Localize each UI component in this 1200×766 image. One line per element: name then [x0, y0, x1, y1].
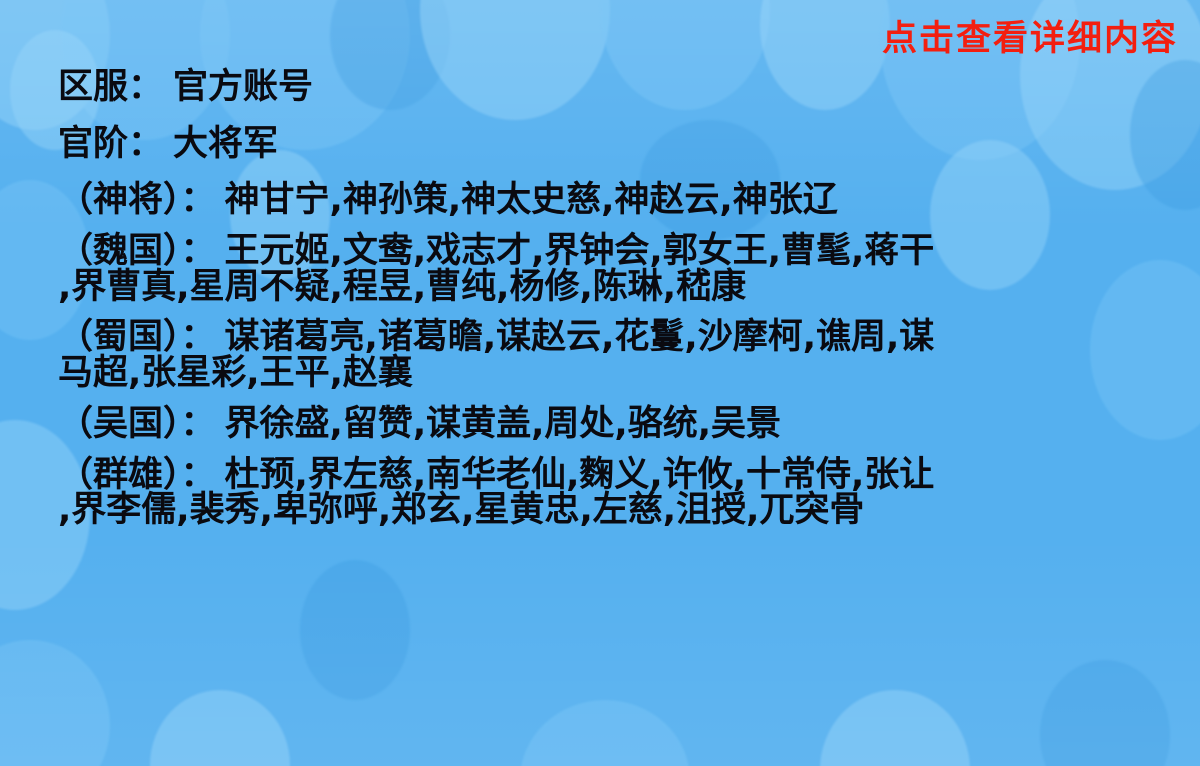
faction-members: 神甘宁,神孙策,神太史慈,神赵云,神张辽	[225, 180, 838, 220]
faction-colon: ：	[181, 455, 225, 495]
server-label: 区服	[58, 67, 128, 107]
faction-row-wei: （魏国）：王元姬,文鸯,戏志才,界钟会,郭女王,曹髦,蒋干 ,界曹真,星周不疑,…	[58, 234, 1188, 305]
faction-members: 杜预,界左慈,南华老仙,麴义,许攸,十常侍,张让	[225, 455, 935, 495]
faction-label: （吴国）	[58, 404, 181, 444]
faction-members-continued: ,界曹真,星周不疑,程昱,曹纯,杨修,陈琳,嵇康	[58, 267, 746, 307]
faction-line-primary: （吴国）：界徐盛,留赞,谋黄盖,周处,骆统,吴景	[58, 407, 1188, 443]
promo-banner[interactable]: 点击查看详细内容	[882, 22, 1178, 57]
faction-label: （魏国）	[58, 231, 181, 271]
faction-row-shu: （蜀国）：谋诸葛亮,诸葛瞻,谋赵云,花鬘,沙摩柯,谯周,谋 马超,张星彩,王平,…	[58, 320, 1188, 391]
faction-label: （神将）	[58, 180, 181, 220]
faction-members-continued: ,界李儒,裴秀,卑弥呼,郑玄,星黄忠,左慈,沮授,兀突骨	[58, 490, 864, 530]
faction-colon: ：	[181, 180, 225, 220]
faction-line-continued: ,界曹真,星周不疑,程昱,曹纯,杨修,陈琳,嵇康	[58, 270, 1188, 306]
faction-members: 王元姬,文鸯,戏志才,界钟会,郭女王,曹髦,蒋干	[225, 231, 935, 271]
server-value: 官方账号	[173, 67, 313, 107]
content-layer: 点击查看详细内容 区服：官方账号 官阶：大将军 （神将）：神甘宁,神孙策,神太史…	[0, 0, 1200, 766]
faction-colon: ：	[181, 404, 225, 444]
rank-colon: ：	[128, 124, 173, 164]
faction-line-primary: （蜀国）：谋诸葛亮,诸葛瞻,谋赵云,花鬘,沙摩柯,谯周,谋	[58, 320, 1188, 356]
server-colon: ：	[128, 67, 173, 107]
faction-label: （群雄）	[58, 455, 181, 495]
screenshot-root: 点击查看详细内容 区服：官方账号 官阶：大将军 （神将）：神甘宁,神孙策,神太史…	[0, 0, 1200, 766]
faction-members-continued: 马超,张星彩,王平,赵襄	[58, 353, 413, 393]
faction-line-continued: ,界李儒,裴秀,卑弥呼,郑玄,星黄忠,左慈,沮授,兀突骨	[58, 493, 1188, 529]
faction-row-qunxiong: （群雄）：杜预,界左慈,南华老仙,麴义,许攸,十常侍,张让 ,界李儒,裴秀,卑弥…	[58, 458, 1188, 529]
faction-line-primary: （群雄）：杜预,界左慈,南华老仙,麴义,许攸,十常侍,张让	[58, 458, 1188, 494]
account-info-block: 区服：官方账号 官阶：大将军 （神将）：神甘宁,神孙策,神太史慈,神赵云,神张辽…	[58, 70, 1188, 544]
faction-colon: ：	[181, 317, 225, 357]
faction-members: 谋诸葛亮,诸葛瞻,谋赵云,花鬘,沙摩柯,谯周,谋	[225, 317, 935, 357]
server-row: 区服：官方账号	[58, 70, 1188, 106]
faction-colon: ：	[181, 231, 225, 271]
faction-line-continued: 马超,张星彩,王平,赵襄	[58, 356, 1188, 392]
rank-value: 大将军	[173, 124, 278, 164]
faction-members: 界徐盛,留赞,谋黄盖,周处,骆统,吴景	[225, 404, 781, 444]
faction-line-primary: （神将）：神甘宁,神孙策,神太史慈,神赵云,神张辽	[58, 183, 1188, 219]
rank-label: 官阶	[58, 124, 128, 164]
faction-row-wu: （吴国）：界徐盛,留赞,谋黄盖,周处,骆统,吴景	[58, 407, 1188, 443]
faction-label: （蜀国）	[58, 317, 181, 357]
faction-row-shenjiang: （神将）：神甘宁,神孙策,神太史慈,神赵云,神张辽	[58, 183, 1188, 219]
rank-row: 官阶：大将军	[58, 127, 1188, 163]
faction-line-primary: （魏国）：王元姬,文鸯,戏志才,界钟会,郭女王,曹髦,蒋干	[58, 234, 1188, 270]
